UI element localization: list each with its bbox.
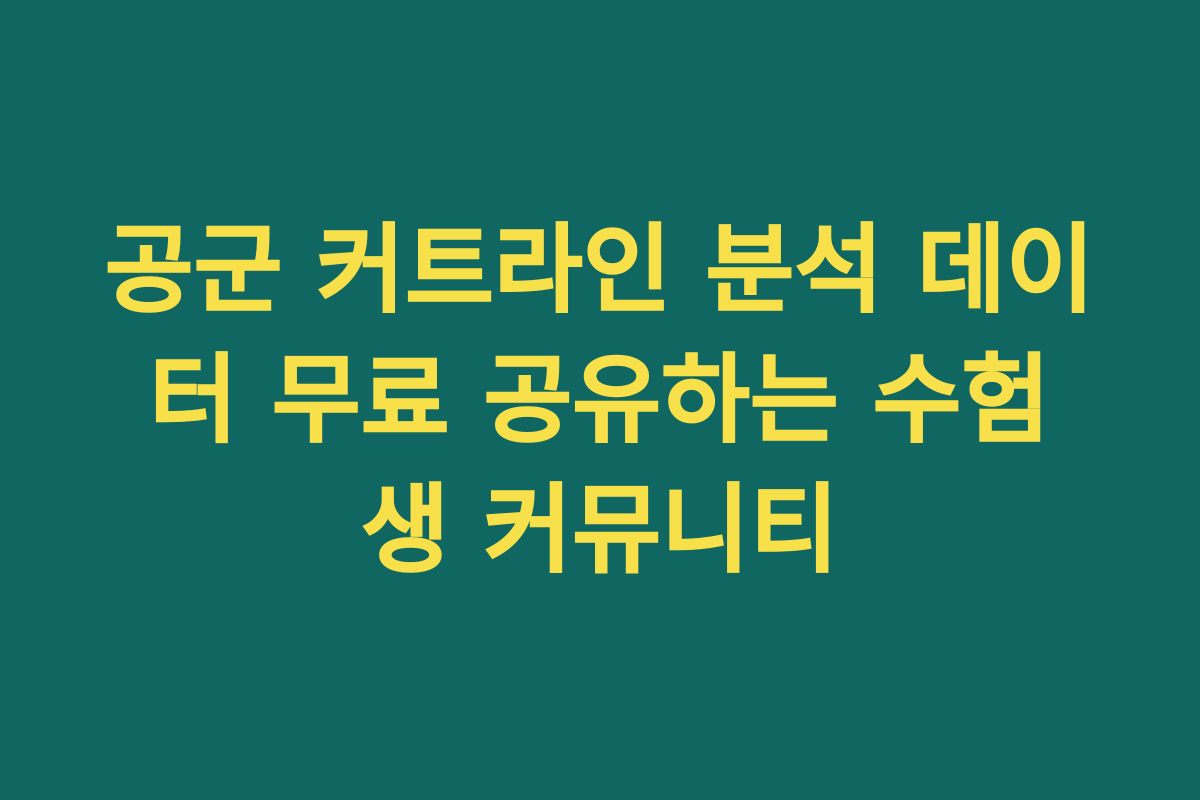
headline-line-1: 공군 커트라인 분석 데이 bbox=[80, 205, 1120, 335]
headline-line-3: 생 커뮤니티 bbox=[80, 465, 1120, 595]
page-title: 공군 커트라인 분석 데이 터 무료 공유하는 수험 생 커뮤니티 bbox=[80, 205, 1120, 595]
headline-line-2: 터 무료 공유하는 수험 bbox=[80, 335, 1120, 465]
banner-background: 공군 커트라인 분석 데이 터 무료 공유하는 수험 생 커뮤니티 bbox=[0, 0, 1200, 800]
